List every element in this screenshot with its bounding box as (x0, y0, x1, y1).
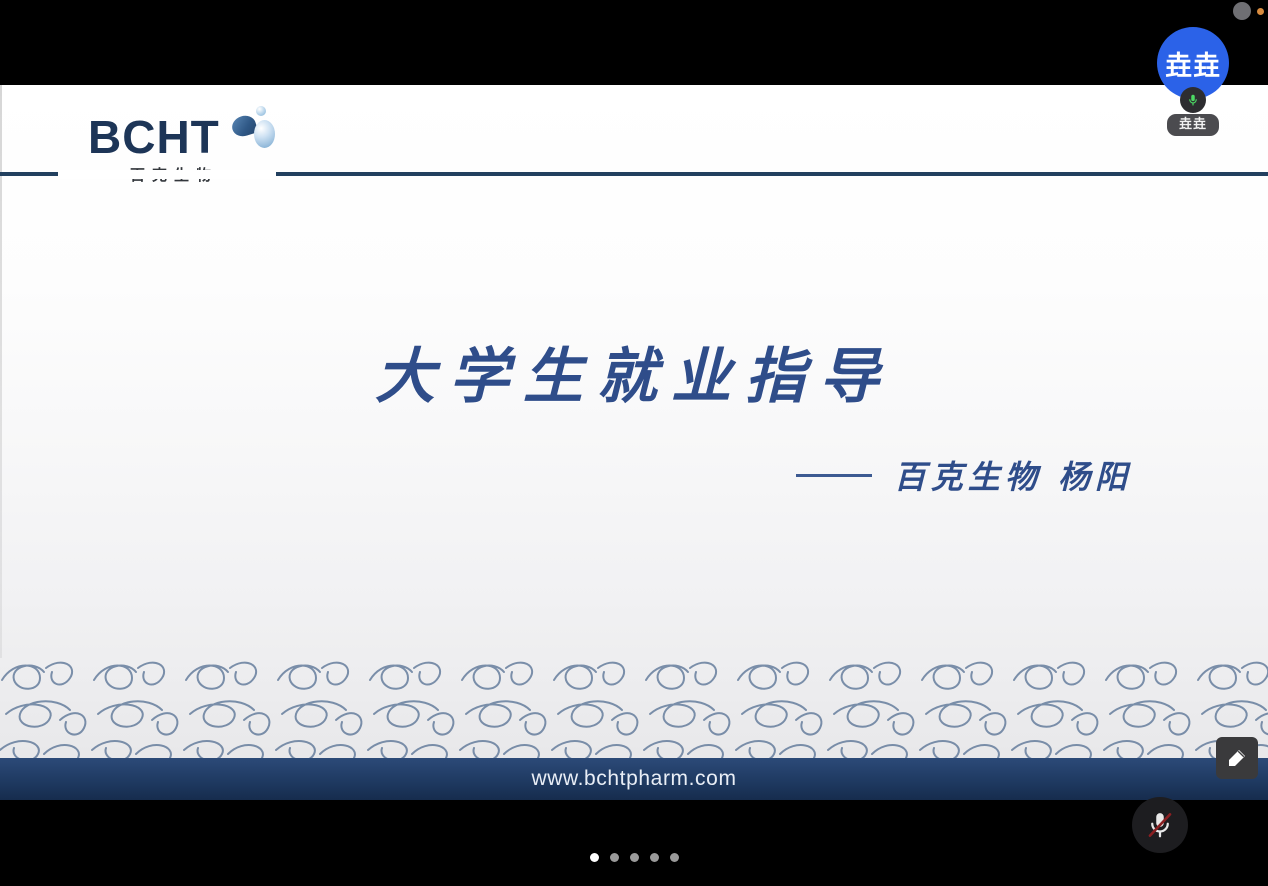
grey-status-dot (1233, 2, 1251, 20)
pagination-dot-4[interactable] (650, 853, 659, 862)
slide-byline: 百克生物 杨阳 (796, 452, 1132, 498)
logo-small-bubble (256, 106, 266, 116)
status-indicator-group (1233, 2, 1264, 20)
microphone-icon (1186, 93, 1200, 107)
footer-url-text: www.bchtpharm.com (531, 767, 736, 791)
avatar-initials: 垚垚 (1165, 44, 1221, 83)
pagination-dot-5[interactable] (670, 853, 679, 862)
participant-tile[interactable]: 垚垚 垚垚 (1157, 27, 1229, 136)
pen-icon (1225, 746, 1249, 770)
slide-pagination[interactable] (0, 853, 1268, 862)
logo-bubble-icon (230, 106, 286, 162)
pagination-dot-2[interactable] (610, 853, 619, 862)
decorative-swirl-band (0, 658, 1268, 758)
presentation-viewer: BCHT 百克生物 大学生就业指导 百克生物 杨阳 (0, 0, 1268, 886)
header-rule-gap (58, 170, 276, 179)
bcht-logo: BCHT 百克生物 (88, 112, 288, 192)
participant-mic-badge (1180, 87, 1206, 113)
slide-canvas[interactable]: BCHT 百克生物 大学生就业指导 百克生物 杨阳 (0, 85, 1268, 800)
logo-large-bubble (254, 120, 275, 148)
orange-status-dot (1257, 8, 1264, 15)
slide-title: 大学生就业指导 (0, 328, 1268, 415)
annotate-button[interactable] (1216, 737, 1258, 779)
pagination-dot-1[interactable] (590, 853, 599, 862)
pagination-dot-3[interactable] (630, 853, 639, 862)
avatar[interactable]: 垚垚 (1157, 27, 1229, 99)
byline-text: 百克生物 杨阳 (894, 452, 1132, 498)
slide-footer-bar: www.bchtpharm.com (0, 758, 1268, 800)
microphone-muted-icon (1145, 810, 1175, 840)
mute-button[interactable] (1132, 797, 1188, 853)
participant-name-label: 垚垚 (1167, 114, 1219, 136)
byline-dash-rule (796, 474, 872, 477)
